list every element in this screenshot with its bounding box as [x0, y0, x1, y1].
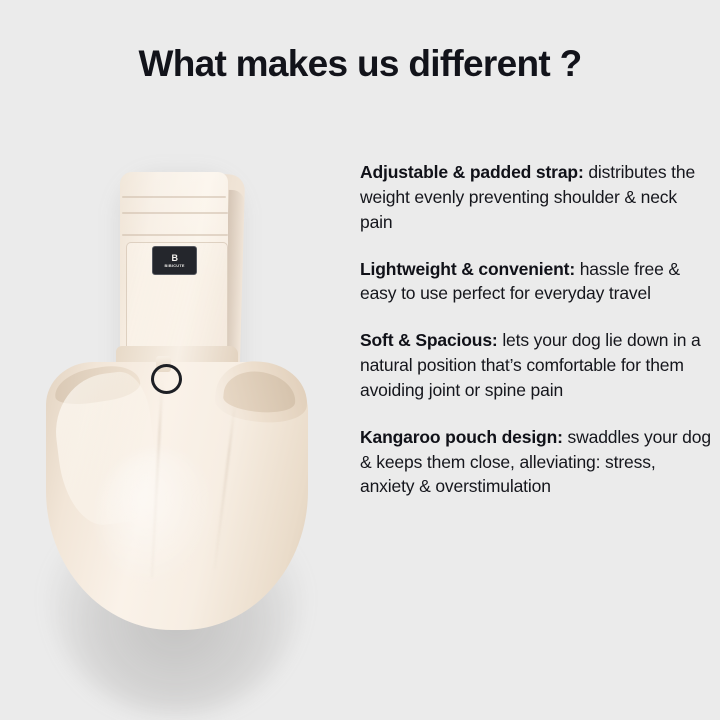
- d-ring-icon: [151, 364, 182, 394]
- feature-lead: Lightweight & convenient:: [360, 259, 575, 279]
- feature-lead: Soft & Spacious:: [360, 330, 498, 350]
- feature-item-adjustable-padded-strap: Adjustable & padded strap: distributes t…: [360, 160, 712, 235]
- feature-item-kangaroo-pouch-design: Kangaroo pouch design: swaddles your dog…: [360, 425, 712, 500]
- pouch-highlight: [98, 450, 218, 590]
- feature-list: Adjustable & padded strap: distributes t…: [360, 160, 712, 499]
- feature-item-lightweight-convenient: Lightweight & convenient: hassle free & …: [360, 257, 712, 307]
- brand-patch: B BIBICUTE: [152, 246, 197, 275]
- strap-seam-line: [122, 212, 228, 214]
- strap-seam-line: [122, 234, 228, 236]
- feature-text: Lightweight & convenient: hassle free & …: [360, 257, 712, 307]
- product-image-dog-sling-carrier: B BIBICUTE: [28, 150, 340, 620]
- strap-seam-line: [122, 196, 226, 198]
- feature-lead: Kangaroo pouch design:: [360, 427, 563, 447]
- brand-wordmark: BIBICUTE: [164, 264, 184, 268]
- infographic-page: What makes us different ? B BIBICUTE Adj…: [0, 0, 720, 720]
- feature-item-soft-spacious: Soft & Spacious: lets your dog lie down …: [360, 328, 712, 403]
- feature-text: Adjustable & padded strap: distributes t…: [360, 160, 712, 235]
- page-title: What makes us different ?: [0, 44, 720, 85]
- feature-lead: Adjustable & padded strap:: [360, 162, 584, 182]
- feature-text: Soft & Spacious: lets your dog lie down …: [360, 328, 712, 403]
- feature-text: Kangaroo pouch design: swaddles your dog…: [360, 425, 712, 500]
- brand-logo-mark: B: [172, 254, 178, 263]
